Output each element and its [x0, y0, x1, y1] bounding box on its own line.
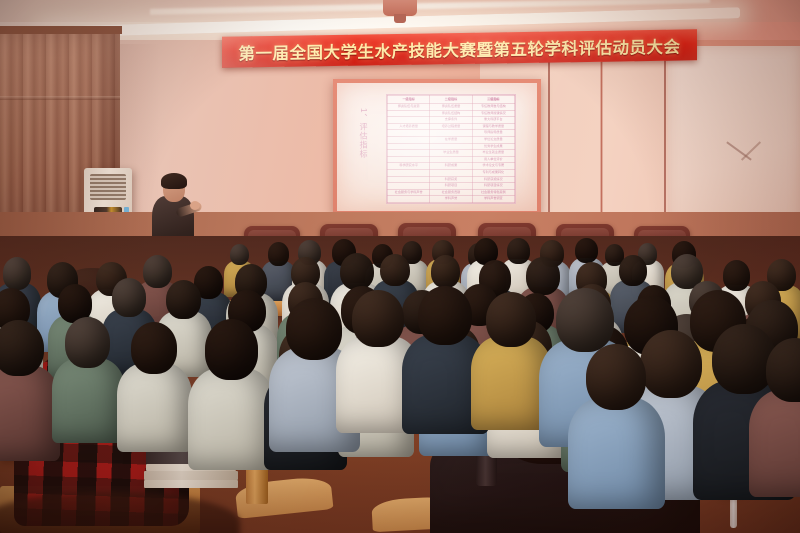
audience-member-body	[52, 358, 125, 443]
audience-member-body	[188, 368, 275, 471]
banner-text: 第一届全国大学生水产技能大赛暨第五轮学科评估动员大会	[239, 33, 681, 64]
audience-member-head	[131, 322, 177, 374]
book-stack-item	[144, 480, 238, 488]
audience-member-head	[352, 290, 404, 347]
audience-member-head	[205, 319, 259, 379]
whiteboard	[668, 46, 800, 232]
book-stack-item	[144, 471, 238, 480]
audience-member-head	[340, 253, 374, 291]
presenter-hand	[190, 201, 200, 210]
audience-member-body	[568, 397, 665, 509]
smoke-detector-base	[394, 14, 406, 23]
curtain-fold	[0, 96, 120, 100]
projector-glare	[337, 83, 537, 211]
audience-member-head	[3, 257, 32, 289]
audience-member-head	[640, 330, 702, 398]
audience-member-head	[486, 292, 536, 347]
ac-grille-icon	[90, 174, 126, 200]
audience-member-head	[526, 257, 559, 294]
audience-member-head	[0, 320, 44, 377]
audience-member-head	[65, 317, 110, 367]
audience-member-head	[268, 242, 289, 266]
audience-member-head	[619, 255, 647, 286]
audience-member-head	[586, 344, 646, 410]
audience-member-head	[507, 238, 530, 263]
audience-member-head	[143, 255, 172, 288]
audience-member-head	[380, 254, 409, 287]
presenter-hair	[161, 173, 187, 189]
conference-hall-photo: 第一届全国大学生水产技能大赛暨第五轮学科评估动员大会 一级指标二级指标三级指标 …	[0, 0, 800, 533]
audience-member-head	[575, 238, 597, 263]
audience-member-head	[556, 288, 614, 352]
audience-member-head	[112, 278, 146, 317]
audience-member-head	[230, 244, 249, 265]
audience-member-body	[117, 363, 192, 451]
audience-member-head	[286, 298, 342, 360]
audience-member-head	[166, 280, 201, 319]
audience-member-head	[418, 286, 472, 345]
audience-member-body	[749, 389, 800, 497]
curtain-rod	[0, 26, 122, 34]
wall-seam	[548, 46, 550, 216]
audience-member-head	[723, 260, 750, 291]
audience-member-head	[431, 255, 461, 288]
